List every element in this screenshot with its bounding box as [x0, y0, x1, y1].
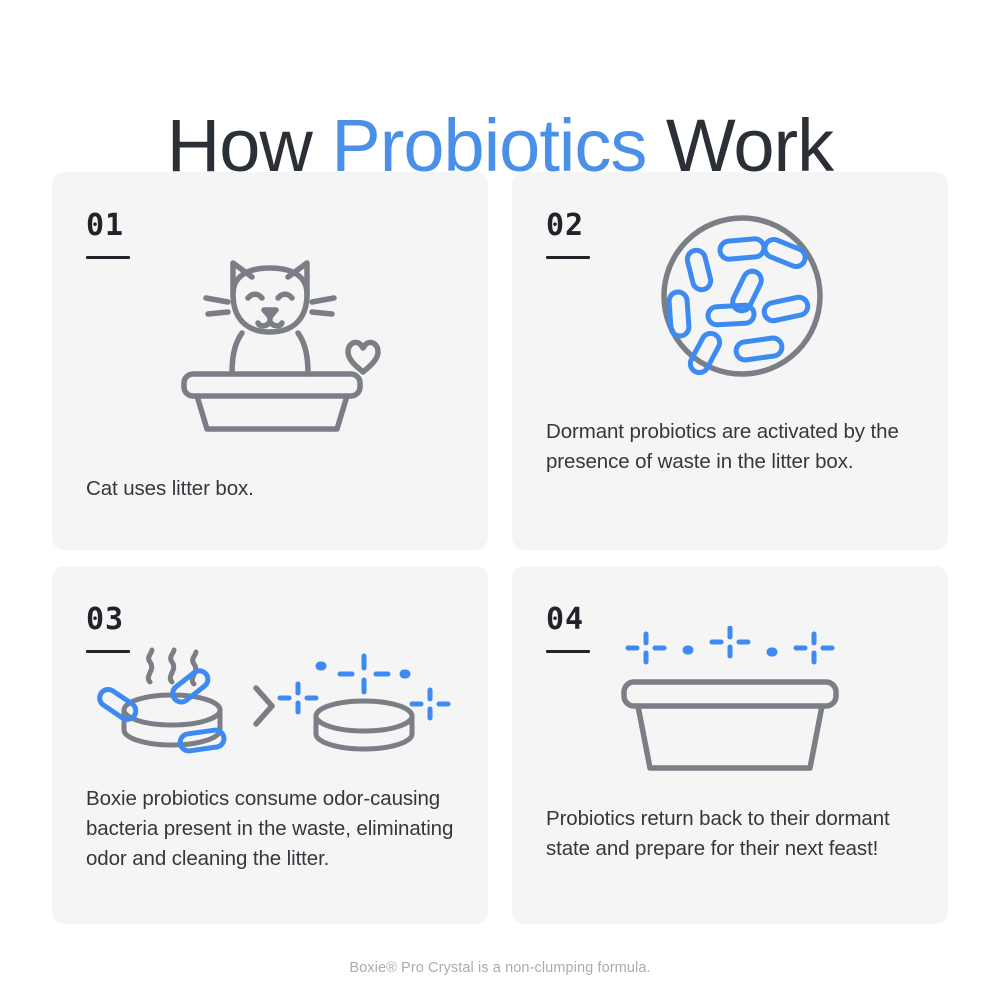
step-card-01: 01	[52, 172, 488, 550]
step-caption-02: Dormant probiotics are activated by the …	[546, 417, 922, 477]
footer-disclaimer: Boxie® Pro Crystal is a non-clumping for…	[0, 958, 1000, 978]
step-card-02: 02 Dormant probiotics are a	[512, 172, 948, 550]
step-rule-02	[546, 256, 590, 259]
step-number-03: 03	[86, 604, 454, 636]
step-caption-01: Cat uses litter box.	[86, 474, 462, 504]
step-rule-01	[86, 256, 130, 259]
step-number-02: 02	[546, 210, 914, 242]
step-caption-04: Probiotics return back to their dormant …	[546, 804, 922, 864]
step-card-03: 03	[52, 566, 488, 924]
step-rule-03	[86, 650, 130, 653]
clean-litter-box-with-sparkles-icon	[610, 626, 850, 776]
step-number-04: 04	[546, 604, 914, 636]
steps-grid: 01	[52, 172, 948, 924]
cat-in-litter-box-icon	[170, 232, 390, 432]
step-card-04: 04 Probiotics return back to their dorma…	[512, 566, 948, 924]
step-caption-03: Boxie probiotics consume odor-causing ba…	[86, 784, 462, 874]
odor-to-clean-clump-icon	[92, 644, 452, 768]
infographic-page: How Probiotics Work 01	[0, 0, 1000, 1000]
step-rule-04	[546, 650, 590, 653]
step-number-01: 01	[86, 210, 454, 242]
